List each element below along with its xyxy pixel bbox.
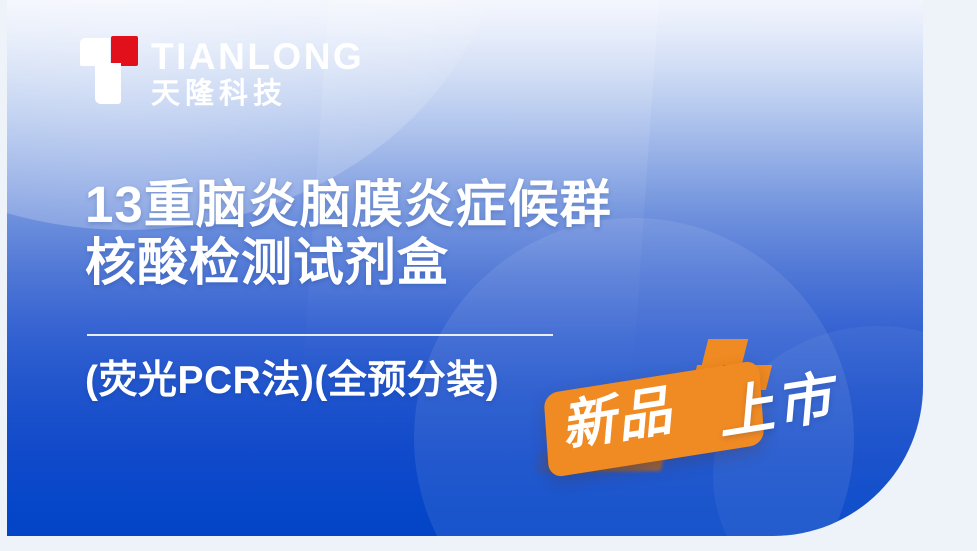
page-subtitle: (荧光PCR法)(全预分装) (85, 358, 499, 404)
headline-line-1: 13重脑炎脑膜炎症候群 (85, 176, 612, 234)
title-divider (87, 334, 553, 336)
brand-name-en: TIANLONG (151, 37, 364, 77)
brand-logo[interactable]: TIANLONG 天隆科技 (80, 36, 364, 111)
mark-stem-block (95, 63, 121, 104)
brand-name-cn: 天隆科技 (151, 78, 364, 111)
mark-red-block (111, 36, 138, 66)
new-product-badge: 新品 上市 (527, 330, 867, 500)
mark-left-block (80, 38, 110, 66)
product-banner: TIANLONG 天隆科技 13重脑炎脑膜炎症候群 核酸检测试剂盒 (荧光PCR… (0, 0, 977, 551)
tianlong-t-mark-icon (80, 36, 138, 104)
banner-card: TIANLONG 天隆科技 13重脑炎脑膜炎症候群 核酸检测试剂盒 (荧光PCR… (7, 0, 923, 536)
badge-block-a (702, 339, 748, 365)
headline-line-2: 核酸检测试剂盒 (85, 234, 612, 292)
brand-wordmark: TIANLONG 天隆科技 (151, 36, 364, 111)
page-title: 13重脑炎脑膜炎症候群 核酸检测试剂盒 (85, 176, 612, 292)
